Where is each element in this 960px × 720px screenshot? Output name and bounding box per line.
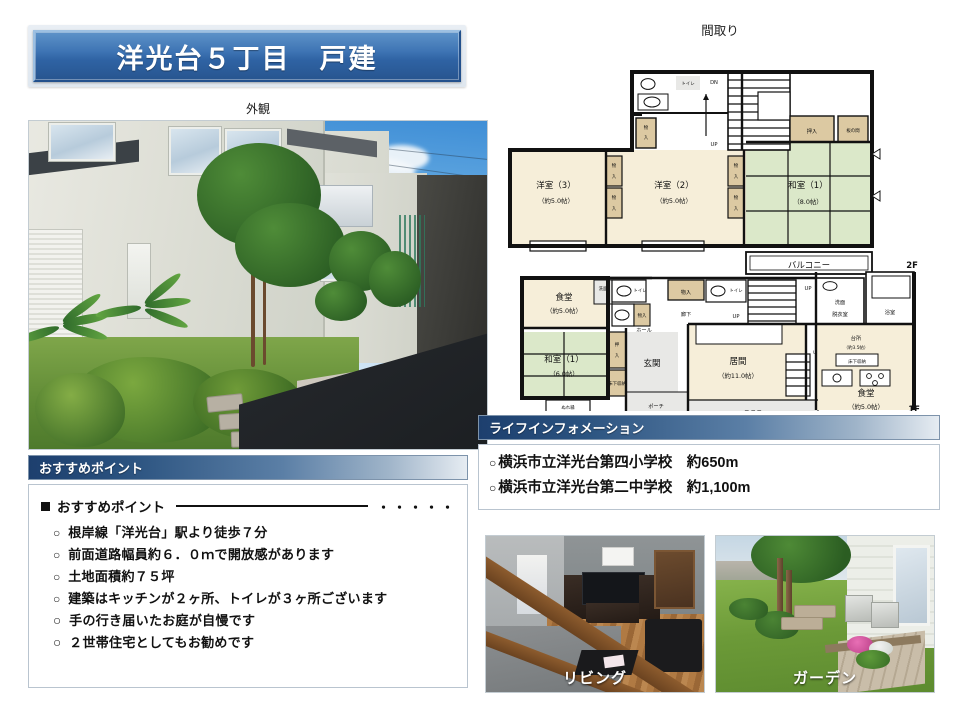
living-room-photo: リビング bbox=[485, 535, 705, 693]
title-banner: 洋光台５丁目 戸建 bbox=[28, 25, 466, 87]
shrub-ball bbox=[315, 281, 367, 321]
garden-photo-label: ガーデン bbox=[716, 667, 934, 688]
svg-text:板の間: 板の間 bbox=[846, 127, 860, 134]
svg-text:トイレ: トイレ bbox=[681, 82, 694, 87]
room-label: 浴室 bbox=[885, 308, 895, 316]
room-size: （約11.0帖） bbox=[718, 371, 758, 380]
planter-greenery bbox=[856, 650, 891, 669]
recommend-item-text: 根岸線「洋光台」駅より徒歩７分 bbox=[68, 522, 267, 541]
svg-text:物: 物 bbox=[734, 194, 739, 201]
svg-text:UP: UP bbox=[805, 286, 812, 292]
room-size: （8.0帖） bbox=[793, 197, 822, 206]
svg-text:物: 物 bbox=[612, 194, 617, 201]
svg-text:物: 物 bbox=[612, 162, 617, 169]
air-conditioner-unit bbox=[871, 602, 899, 629]
recommend-list-title: おすすめポイント bbox=[57, 496, 165, 516]
neighbor-structure bbox=[417, 175, 488, 355]
flyer-page: 洋光台５丁目 戸建 外観 bbox=[0, 0, 960, 720]
circle-bullet-icon: ○ bbox=[53, 527, 60, 539]
room-label: 居間 bbox=[729, 357, 746, 367]
svg-text:入: 入 bbox=[734, 174, 739, 180]
svg-text:物入: 物入 bbox=[681, 288, 692, 296]
stepping-stone bbox=[794, 605, 835, 618]
room-label: 和室（1） bbox=[544, 354, 583, 365]
room-label: 食堂 bbox=[555, 292, 572, 303]
room-label: バルコニー bbox=[788, 261, 830, 271]
recommend-item-text: 手の行き届いたお庭が自慢です bbox=[69, 610, 255, 629]
recommend-item: ○ 建築はキッチンが２ヶ所、トイレが３ヶ所ございます bbox=[53, 588, 457, 607]
room-label: ポーチ bbox=[648, 402, 664, 410]
room-size: （約5.0帖） bbox=[538, 196, 574, 205]
life-information-item: ○ 横浜市立洋光台第二中学校 約1,100m bbox=[489, 476, 929, 497]
page-title: 洋光台５丁目 戸建 bbox=[117, 37, 378, 76]
recommend-item-text: 前面道路幅員約６．０ｍで開放感があります bbox=[68, 544, 334, 563]
recommend-item: ○ ２世帯住宅としてもお勧めです bbox=[53, 632, 457, 651]
garden-photo: ガーデン bbox=[715, 535, 935, 693]
stepping-stone bbox=[781, 617, 822, 630]
svg-text:トイレ: トイレ bbox=[729, 289, 742, 294]
floorplan-drawing: .w{stroke:#111;fill:none;} .wt{stroke-wi… bbox=[500, 36, 950, 411]
recommend-item: ○ 前面道路幅員約６．０ｍで開放感があります bbox=[53, 544, 457, 563]
life-information-item-text: 横浜市立洋光台第四小学校 約650m bbox=[498, 451, 738, 472]
room-label: 洋室（2） bbox=[654, 180, 693, 191]
tv-stand bbox=[586, 603, 638, 623]
svg-text:入: 入 bbox=[644, 135, 649, 141]
flowering-hedge bbox=[35, 373, 125, 447]
svg-text:UP: UP bbox=[711, 142, 718, 148]
room-size: （約3.5帖） bbox=[844, 344, 869, 351]
svg-text:入: 入 bbox=[734, 206, 739, 212]
circle-bullet-icon: ○ bbox=[489, 456, 496, 470]
room-label: 廊下 bbox=[681, 310, 691, 318]
living-room-photo-label: リビング bbox=[486, 667, 704, 688]
circle-bullet-icon: ○ bbox=[53, 549, 60, 561]
circle-bullet-icon: ○ bbox=[53, 593, 60, 605]
svg-text:物入: 物入 bbox=[638, 312, 647, 319]
circle-bullet-icon: ○ bbox=[53, 636, 61, 650]
svg-text:物: 物 bbox=[734, 162, 739, 169]
recommend-item: ○ 手の行き届いたお庭が自慢です bbox=[53, 610, 457, 629]
room-label: 玄関 bbox=[643, 358, 660, 369]
recommend-item-text: 土地面積約７５坪 bbox=[68, 566, 174, 585]
room-size: （約5.0帖） bbox=[656, 196, 692, 205]
recommend-points-header: おすすめポイント bbox=[28, 455, 468, 480]
recommend-points-panel: おすすめポイント ・・・・・ ○ 根岸線「洋光台」駅より徒歩７分 ○ 前面道路幅… bbox=[28, 484, 468, 688]
room-label: 食堂 bbox=[857, 388, 874, 399]
svg-text:押入: 押入 bbox=[807, 127, 818, 135]
floor-label-1f: 1F bbox=[908, 405, 920, 411]
wall-art bbox=[602, 547, 635, 566]
recommend-item: ○ 土地面積約７５坪 bbox=[53, 566, 457, 585]
exterior-photo bbox=[28, 120, 488, 450]
svg-text:物: 物 bbox=[644, 124, 649, 131]
window-shutter bbox=[49, 123, 115, 161]
room-label: 脱衣室 bbox=[832, 310, 848, 318]
room-label: 洗面 bbox=[835, 298, 845, 306]
title-bar: 洋光台５丁目 戸建 bbox=[33, 30, 461, 82]
tree-canopy bbox=[235, 203, 345, 287]
recommend-item-text: 建築はキッチンが２ヶ所、トイレが３ヶ所ございます bbox=[68, 588, 387, 607]
room-label: 洋室（3） bbox=[536, 180, 575, 191]
recommend-points-section: おすすめポイント おすすめポイント ・・・・・ ○ 根岸線「洋光台」駅より徒歩７… bbox=[28, 455, 468, 695]
floor-2-plan: トイレ 物 入 bbox=[510, 72, 918, 274]
svg-text:押: 押 bbox=[615, 341, 620, 348]
display-cabinet bbox=[654, 550, 695, 609]
svg-text:入: 入 bbox=[615, 353, 620, 359]
life-information-panel: ○ 横浜市立洋光台第四小学校 約650m ○ 横浜市立洋光台第二中学校 約1,1… bbox=[478, 444, 940, 510]
life-information-section: ライフインフォメーション ○ 横浜市立洋光台第四小学校 約650m ○ 横浜市立… bbox=[478, 415, 940, 515]
hedge bbox=[729, 598, 768, 620]
room-size: （約5.0帖） bbox=[848, 402, 884, 411]
trailing-dots: ・・・・・ bbox=[377, 497, 457, 516]
square-bullet-icon bbox=[41, 502, 50, 511]
horizontal-rule bbox=[176, 505, 368, 507]
svg-text:床下収納: 床下収納 bbox=[848, 358, 866, 365]
svg-text:DN: DN bbox=[710, 80, 718, 86]
recommend-points-header-title: おすすめポイント bbox=[39, 458, 143, 477]
recommend-points-title-row: おすすめポイント ・・・・・ bbox=[41, 496, 457, 516]
floor-1-plan: 食堂 （約5.0帖） 和室（1） （6.0帖） 押 入 床下収納 ぬれ縁 bbox=[518, 272, 920, 411]
air-conditioner-unit bbox=[845, 595, 873, 622]
svg-text:トイレ: トイレ bbox=[633, 289, 646, 294]
svg-text:入: 入 bbox=[612, 174, 617, 180]
life-information-header-title: ライフインフォメーション bbox=[489, 418, 644, 437]
svg-text:入: 入 bbox=[612, 206, 617, 212]
exterior-photo-caption: 外観 bbox=[28, 100, 488, 117]
circle-bullet-icon: ○ bbox=[489, 481, 496, 495]
circle-bullet-icon: ○ bbox=[53, 571, 60, 583]
television bbox=[582, 572, 645, 605]
svg-text:床下収納: 床下収納 bbox=[608, 380, 626, 387]
room-label: 和室（1） bbox=[788, 180, 827, 191]
life-information-header: ライフインフォメーション bbox=[478, 415, 940, 440]
life-information-item: ○ 横浜市立洋光台第四小学校 約650m bbox=[489, 451, 929, 472]
life-information-item-text: 横浜市立洋光台第二中学校 約1,100m bbox=[498, 476, 750, 497]
shrub-ball bbox=[369, 251, 421, 307]
floor-label-2f: 2F bbox=[906, 261, 918, 271]
svg-text:UP: UP bbox=[733, 314, 740, 320]
room-label: テラス bbox=[743, 409, 762, 411]
recommend-item: ○ 根岸線「洋光台」駅より徒歩７分 bbox=[53, 522, 457, 541]
recommend-item-text: ２世帯住宅としてもお勧めです bbox=[69, 632, 254, 651]
room-label: 台所 bbox=[851, 334, 861, 342]
svg-text:ぬれ縁: ぬれ縁 bbox=[561, 404, 575, 411]
circle-bullet-icon: ○ bbox=[53, 614, 61, 628]
sofa bbox=[645, 619, 702, 672]
room-size: （6.0帖） bbox=[549, 369, 578, 378]
room-size: （約5.0帖） bbox=[546, 306, 582, 315]
